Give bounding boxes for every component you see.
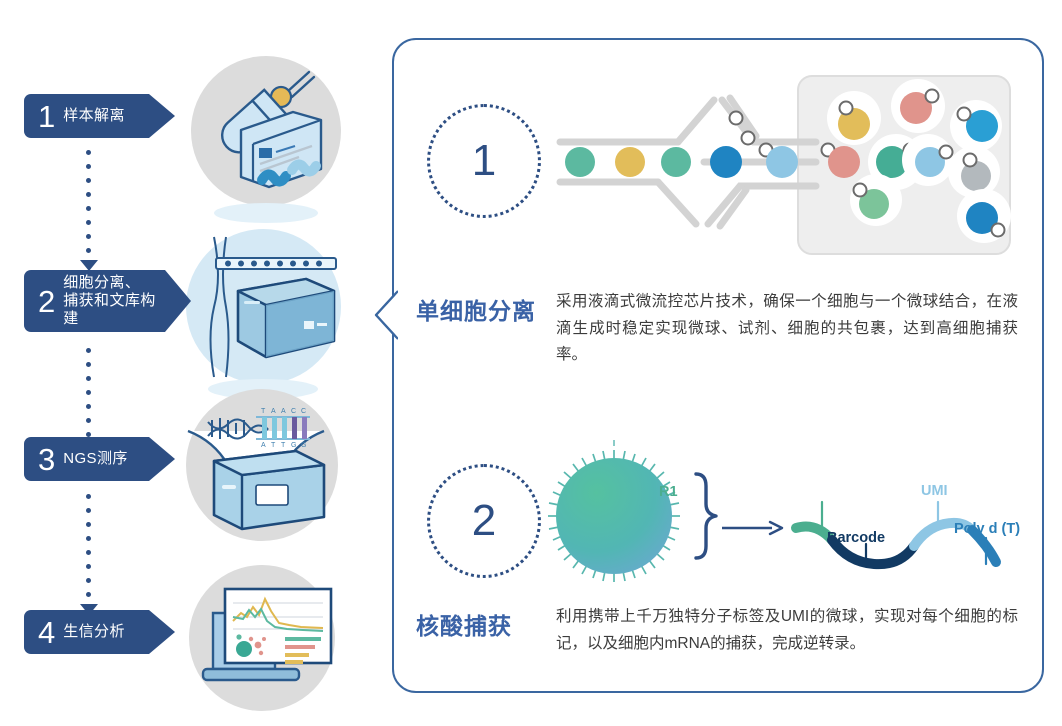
workflow-step-1[interactable]: 1 样本解离 [24,94,149,138]
step-label: 生信分析 [63,623,125,641]
instrument-droplet-icon [186,229,341,384]
step-label: 样本解离 [63,107,125,125]
icon-shadow [214,203,318,223]
microfluidic-chip-droplet-figure [554,70,1014,265]
sample-tube-box-icon [191,56,341,206]
section-1-body: 采用液滴式微流控芯片技术，确保一个细胞与一个微球结合，在液滴生成时稳定实现微球、… [556,289,1018,369]
sequencer-dna-glyph: TAA CC ATT GG [186,389,338,541]
step-number: 2 [38,286,54,317]
section-2-number-badge: 2 [427,464,541,578]
step-number: 4 [38,617,54,648]
section-2-body: 利用携带上千万独特分子标签及UMI的微球，实现对每个细胞的标记，以及细胞内mRN… [556,604,1018,657]
step-label: 细胞分离、 捕获和文库构建 [63,274,165,329]
strand-label-poly-dt: Poly d (T) [954,521,1020,537]
svg-text:C: C [301,408,306,415]
laptop-analysis-icon [189,565,335,711]
sequencer-dna-icon: TAA CC ATT GG [186,389,338,541]
svg-text:A: A [271,408,276,415]
svg-text:A: A [281,408,286,415]
bead-oligo-strand-figure [544,440,1024,600]
svg-text:A: A [261,442,266,449]
workflow-column: TAA CC ATT GG [0,0,375,726]
section-1-title: 单细胞分离 [416,292,536,326]
workflow-connector-3-4 [85,494,92,615]
bead-strand-glyph [544,440,1024,600]
workflow-step-4[interactable]: 4 生信分析 [24,610,149,654]
workflow-step-3[interactable]: 3 NGS测序 [24,437,149,481]
sample-tube-box-glyph [191,56,341,206]
instrument-droplet-glyph [186,229,341,384]
svg-text:T: T [261,408,266,415]
section-number: 2 [472,496,496,546]
section-1-number-badge: 1 [427,104,541,218]
svg-text:G: G [291,442,296,449]
step-number: 3 [38,444,54,475]
detail-panel: 1 [392,38,1044,693]
workflow-step-2[interactable]: 2 细胞分离、 捕获和文库构建 [24,270,165,332]
panel-callout-notch [374,255,398,375]
svg-text:C: C [291,408,296,415]
strand-label-umi: UMI [921,483,948,499]
step-label: NGS测序 [63,450,128,468]
section-number: 1 [472,136,496,186]
svg-text:G: G [301,442,306,449]
section-2-title: 核酸捕获 [416,607,512,641]
laptop-analysis-glyph [189,565,335,711]
svg-text:T: T [281,442,286,449]
strand-label-r1: R1 [659,484,678,500]
svg-text:T: T [271,442,276,449]
strand-label-barcode: Barcode [827,530,885,546]
step-number: 1 [38,101,54,132]
workflow-connector-1-2 [85,150,92,271]
microfluidic-figure-glyph [554,70,1014,265]
infographic-root: TAA CC ATT GG [0,0,1062,726]
